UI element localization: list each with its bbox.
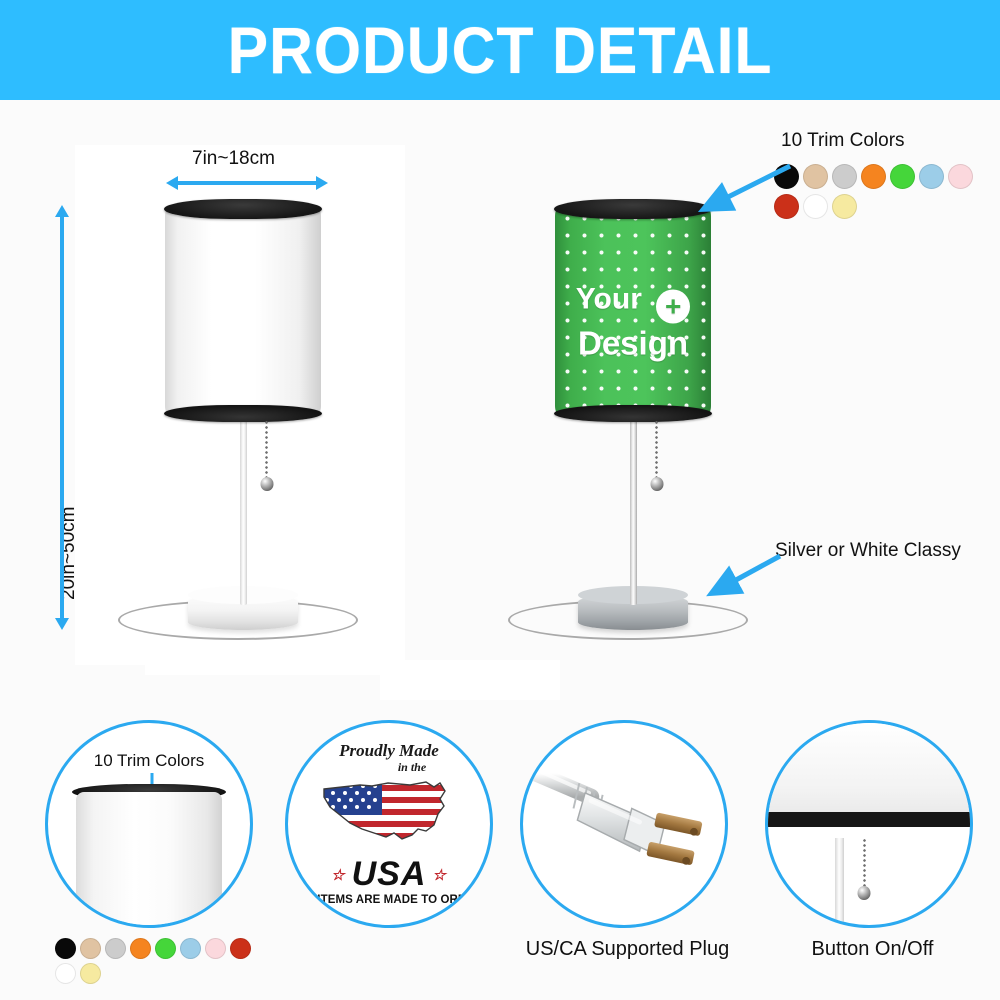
usa-badge-line-3-wrap: ☆ USA ☆ [331,855,447,894]
swatch-yellow[interactable] [832,194,857,219]
lampshade-green: Your + Design [555,206,711,416]
design-line-1: Your [576,282,642,315]
swatch-white[interactable] [55,963,76,984]
lampshade-white [165,206,321,416]
trim-colors-pointer-arrow [690,160,800,220]
feature-circle-switch [765,720,973,928]
pull-chain[interactable] [655,420,658,480]
design-line-2: Design [555,326,711,359]
swatch-orange[interactable] [861,164,886,189]
plus-icon: + [656,289,690,323]
feature-circle-trim-colors: 10 Trim Colors [45,720,253,928]
power-plug-icon [523,723,725,925]
pull-chain-ball [650,477,663,491]
lamp-pole [630,420,637,605]
swatch-yellow[interactable] [80,963,101,984]
page-title: PRODUCT DETAIL [228,12,773,88]
feature-trim-colors: 10 Trim Colors [45,710,260,1000]
pull-chain-beads [265,420,268,480]
swatch-pink[interactable] [948,164,973,189]
swatch-light-blue[interactable] [919,164,944,189]
pull-chain[interactable] [265,420,268,480]
swatch-red[interactable] [230,938,251,959]
pull-chain-closeup[interactable] [863,838,866,889]
usa-badge-line-1: Proudly Made [339,742,439,759]
pull-chain-ball [260,477,273,491]
swatch-white[interactable] [803,194,828,219]
your-design-text: Your + Design [555,284,711,359]
star-icon-left: ☆ [331,866,345,884]
base-finish-callout-label: Silver or White Classy [775,540,961,562]
design-line-1-wrap: Your + [555,284,711,323]
usa-badge-line-4: ALL ITEMS ARE MADE TO ORDER! [292,894,487,906]
lampshade-trim-top [164,199,322,219]
trim-colors-callout-label: 10 Trim Colors [781,130,905,152]
swatch-gray[interactable] [105,938,126,959]
lampshade-trim-closeup [765,812,973,827]
swatch-gray[interactable] [832,164,857,189]
width-dimension-arrow [166,176,328,190]
star-icon-right: ☆ [432,866,446,884]
swatch-green[interactable] [890,164,915,189]
swatch-orange[interactable] [130,938,151,959]
feature-label-switch: Button On/Off [765,938,980,961]
feature-highlights: 10 Trim Colors [0,700,1000,1000]
feature-switch: Button On/Off [765,710,980,1000]
lampshade-surface-closeup [76,792,221,928]
swatch-green[interactable] [155,938,176,959]
swatch-tan[interactable] [803,164,828,189]
swatch-light-blue[interactable] [180,938,201,959]
swatch-tan[interactable] [80,938,101,959]
pull-chain-beads [655,420,658,480]
lamp-pole [240,420,247,605]
pull-chain-beads [863,838,866,889]
trim-color-swatches-top [774,164,1000,224]
main-product-stage: 7in~18cm 20in~50cm [0,100,1000,700]
pull-chain-ball [858,886,871,900]
product-detail-infographic: PRODUCT DETAIL 7in~18cm 20in~50cm [0,0,1000,1000]
header-banner: PRODUCT DETAIL [0,0,1000,100]
lamp-pole-closeup [835,838,844,925]
base-finish-pointer-arrow [700,550,790,605]
feature-made-in-usa: Proudly Made in the [285,710,500,1000]
lampshade-trim-bottom [164,405,322,422]
height-dimension-arrow [55,205,69,630]
lampshade-trim-bottom [554,405,712,422]
width-dimension-label: 7in~18cm [192,148,275,170]
feature-plug: US/CA Supported Plug [520,710,735,1000]
lampshade-surface [165,206,321,416]
feature-label-plug: US/CA Supported Plug [520,938,735,961]
usa-map-flag-icon [314,773,464,855]
usa-badge-line-3: USA [352,855,427,894]
swatch-pink[interactable] [205,938,226,959]
swatch-black[interactable] [55,938,76,959]
feature-circle-plug [520,720,728,928]
feature-circle-made-in-usa: Proudly Made in the [285,720,493,928]
trim-color-swatches-bottom [55,938,260,988]
lampshade-trim-top [554,199,712,219]
feature-trim-colors-text: 10 Trim Colors [48,751,250,771]
lampshade-bottom-closeup [765,723,973,816]
usa-badge: Proudly Made in the [288,723,490,925]
